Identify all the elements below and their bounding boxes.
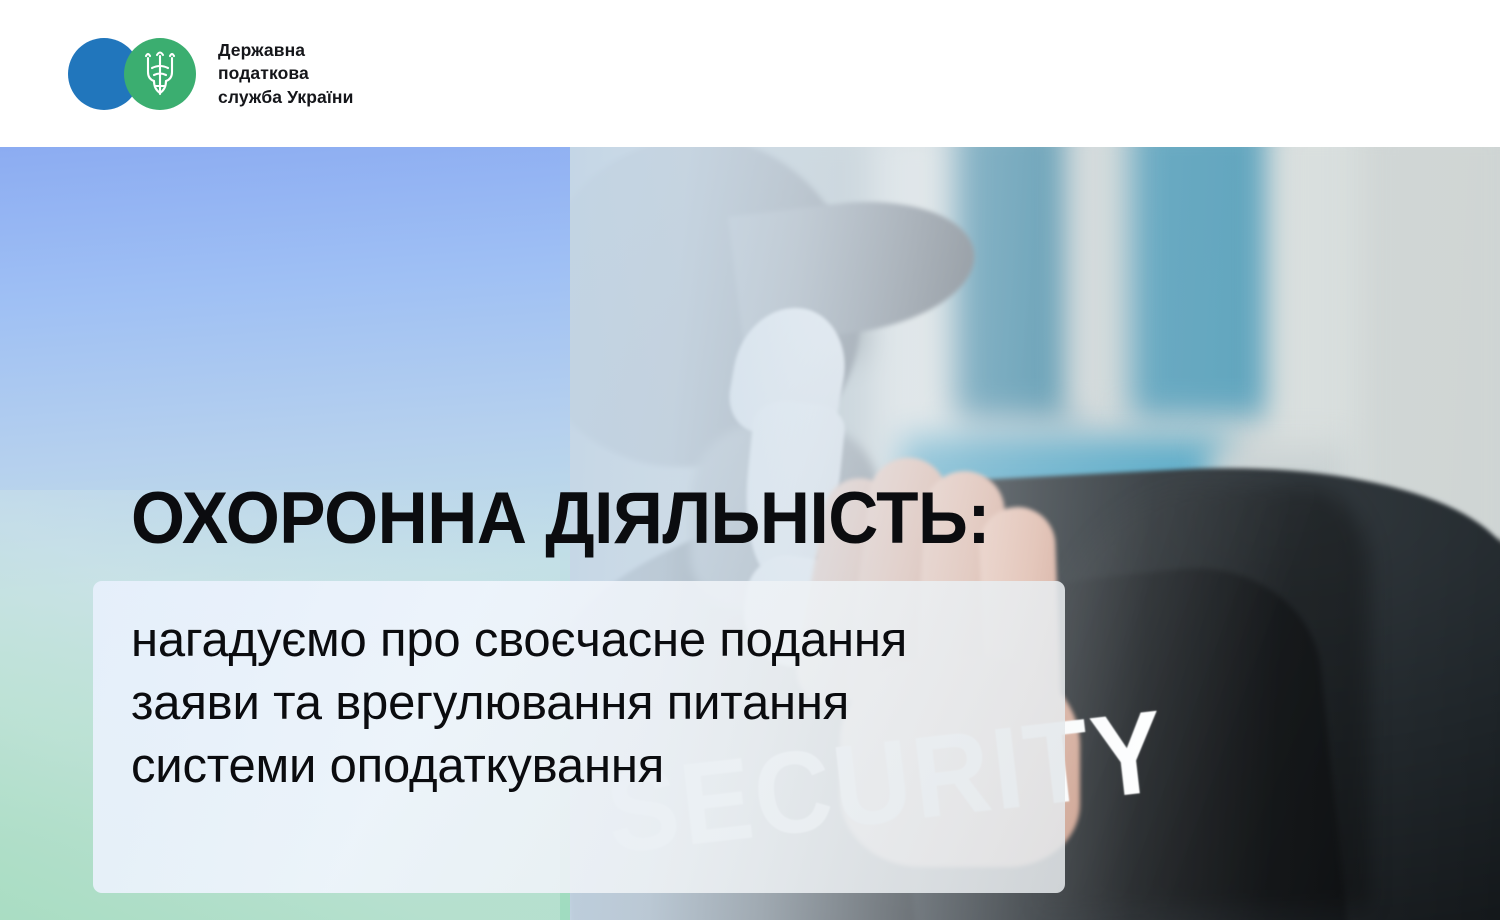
organization-name: Державна податкова служба України — [218, 39, 353, 108]
logo-mark — [68, 38, 196, 110]
site-header: Державна податкова служба України — [0, 0, 1500, 147]
ukraine-trident-icon — [124, 38, 196, 110]
page-title: ОХОРОННА ДІЯЛЬНІСТЬ: — [131, 482, 990, 555]
organization-logo[interactable]: Державна податкова служба України — [68, 38, 353, 110]
hero-banner: SECURITY ОХОРОННА ДІЯЛЬНІСТЬ: нагадуємо … — [0, 147, 1500, 920]
body-text: нагадуємо про своєчасне подання заяви та… — [131, 609, 1011, 799]
